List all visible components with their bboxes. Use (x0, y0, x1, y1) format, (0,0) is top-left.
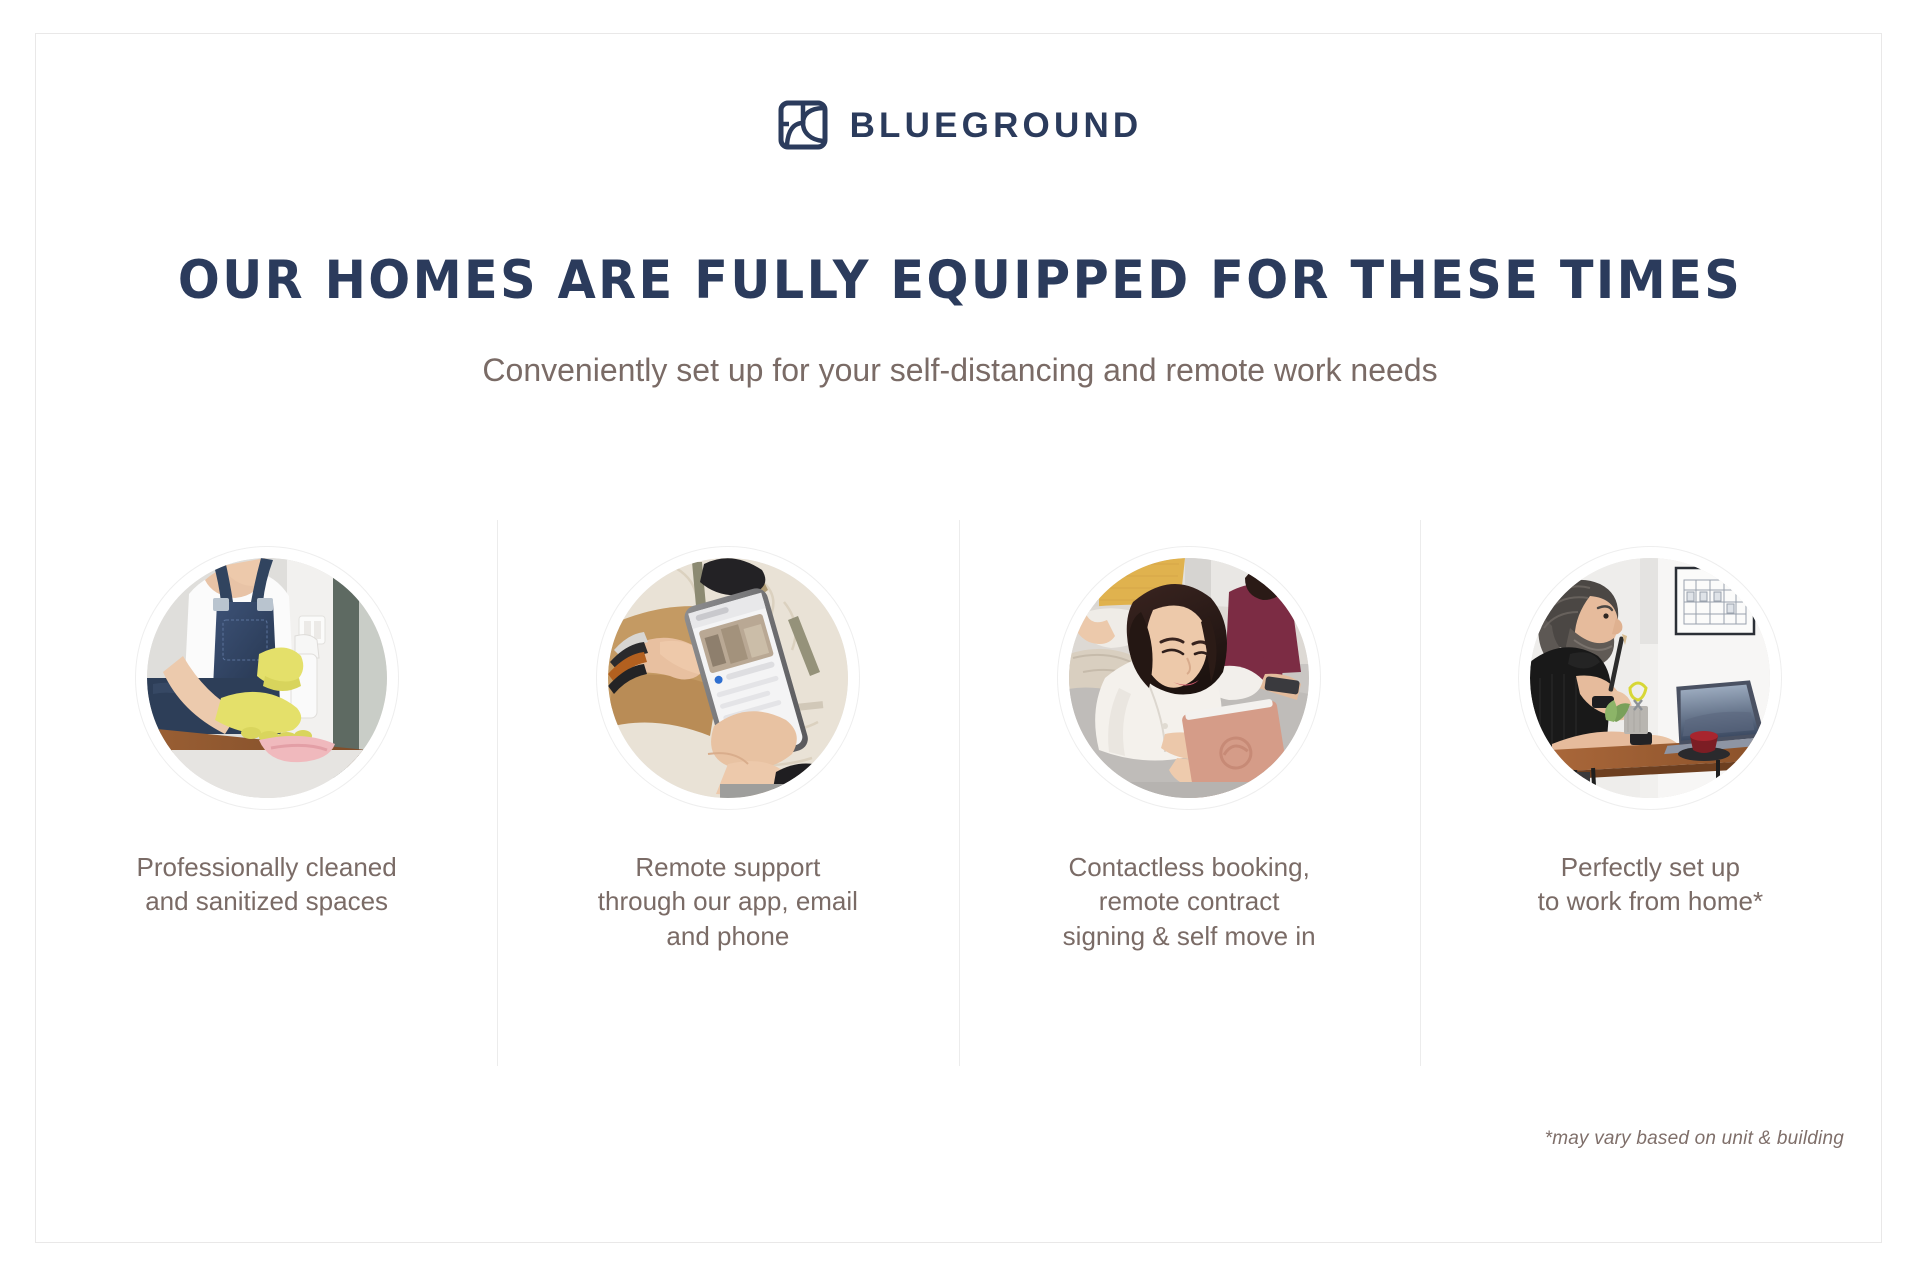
photo-ring (1518, 546, 1782, 810)
photo-cleaning-professional-illustration (147, 558, 387, 798)
blueground-logo-mark-icon (778, 100, 828, 150)
photo-work-from-home (1530, 558, 1770, 798)
photo-smartphone-app-illustration (608, 558, 848, 798)
page-title: OUR HOMES ARE FULLY EQUIPPED FOR THESE T… (67, 254, 1853, 307)
photo-ring (1057, 546, 1321, 810)
feature-column-contactless-booking: Contactless booking, remote contract sig… (959, 520, 1420, 1066)
feature-column-cleaning: Professionally cleaned and sanitized spa… (36, 520, 497, 1066)
brand-wordmark: BLUEGROUND (850, 108, 1143, 143)
feature-caption: Contactless booking, remote contract sig… (1053, 850, 1326, 953)
feature-caption: Remote support through our app, email an… (588, 850, 868, 953)
infographic-page: BLUEGROUND OUR HOMES ARE FULLY EQUIPPED … (0, 0, 1920, 1280)
photo-smartphone-app (608, 558, 848, 798)
feature-column-remote-support: Remote support through our app, email an… (497, 520, 958, 1066)
feature-caption: Professionally cleaned and sanitized spa… (127, 850, 407, 919)
photo-tablet-booking (1069, 558, 1309, 798)
photo-ring (135, 546, 399, 810)
page-subtitle: Conveniently set up for your self-distan… (0, 350, 1920, 392)
photo-cleaning-professional (147, 558, 387, 798)
feature-caption: Perfectly set up to work from home* (1528, 850, 1773, 919)
footnote-disclaimer: *may vary based on unit & building (1545, 1128, 1844, 1150)
brand-logo: BLUEGROUND (0, 100, 1920, 150)
photo-tablet-booking-illustration (1069, 558, 1309, 798)
feature-column-work-from-home: Perfectly set up to work from home* (1420, 520, 1881, 1066)
photo-work-from-home-illustration (1530, 558, 1770, 798)
feature-columns: Professionally cleaned and sanitized spa… (36, 520, 1881, 1066)
photo-ring (596, 546, 860, 810)
